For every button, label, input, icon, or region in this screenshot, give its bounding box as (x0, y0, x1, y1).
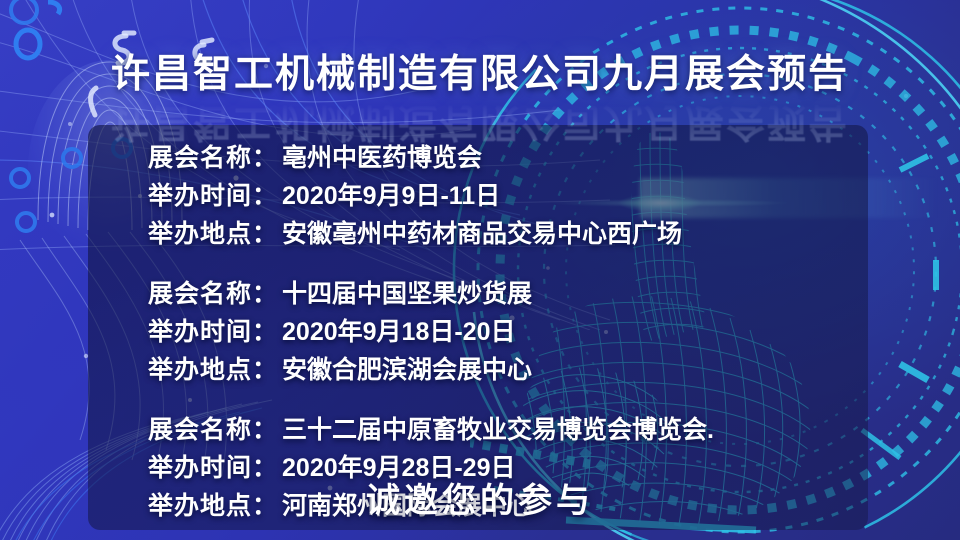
call-to-action-text: 诚邀您的参与 (0, 478, 960, 524)
event-name-row: 展会名称： 十四届中国坚果炒货展 (148, 275, 908, 313)
event-block: 展会名称： 亳州中医药博览会 举办时间： 2020年9月9日-11日 举办地点：… (148, 139, 908, 253)
event-block: 展会名称： 十四届中国坚果炒货展 举办时间： 2020年9月18日-20日 举办… (148, 275, 908, 389)
event-time-label: 举办时间： (148, 313, 278, 351)
event-time-value: 2020年9月18日-20日 (282, 313, 515, 351)
poster-title: 许昌智工机械制造有限公司九月展会预告 (0, 52, 960, 98)
event-place-value: 安徽合肥滨湖会展中心 (282, 351, 532, 389)
event-place-value: 安徽亳州中药材商品交易中心西广场 (282, 215, 682, 253)
event-name-label: 展会名称： (148, 411, 278, 449)
event-name-value: 三十二届中原畜牧业交易博览会博览会. (282, 411, 714, 449)
poster-canvas: 许昌智工机械制造有限公司九月展会预告 许昌智工机械制造有限公司九月展会预告 展会… (0, 0, 960, 540)
event-place-row: 举办地点： 安徽合肥滨湖会展中心 (148, 351, 908, 389)
event-name-label: 展会名称： (148, 275, 278, 313)
event-name-label: 展会名称： (148, 139, 278, 177)
event-time-value: 2020年9月9日-11日 (282, 177, 500, 215)
event-time-row: 举办时间： 2020年9月9日-11日 (148, 177, 908, 215)
event-place-label: 举办地点： (148, 215, 278, 253)
event-time-row: 举办时间： 2020年9月18日-20日 (148, 313, 908, 351)
event-name-row: 展会名称： 亳州中医药博览会 (148, 139, 908, 177)
event-place-label: 举办地点： (148, 351, 278, 389)
event-place-row: 举办地点： 安徽亳州中药材商品交易中心西广场 (148, 215, 908, 253)
event-name-value: 亳州中医药博览会 (282, 139, 482, 177)
event-time-label: 举办时间： (148, 177, 278, 215)
event-name-value: 十四届中国坚果炒货展 (282, 275, 532, 313)
event-name-row: 展会名称： 三十二届中原畜牧业交易博览会博览会. (148, 411, 908, 449)
